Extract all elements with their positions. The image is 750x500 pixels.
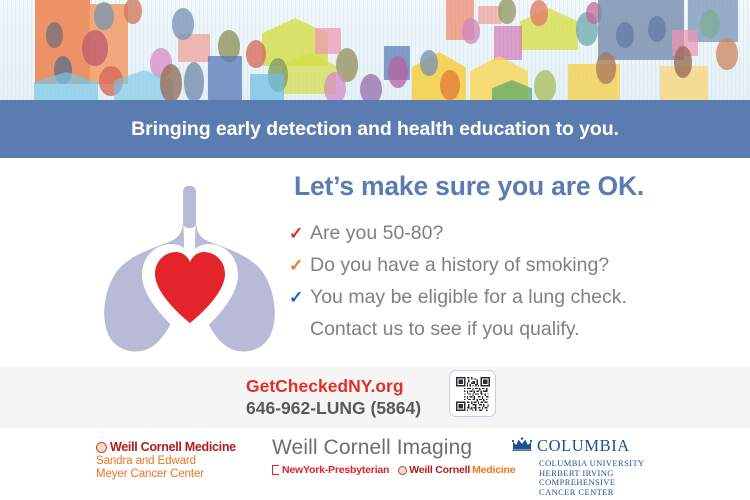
- wci-title: Weill Cornell Imaging: [272, 436, 482, 460]
- art-tree: [700, 10, 720, 38]
- check-icon: ✓: [288, 252, 310, 279]
- art-tree: [616, 22, 634, 48]
- art-tree: [596, 52, 616, 84]
- cornell-seal-icon: [398, 466, 407, 475]
- art-tree: [324, 72, 346, 100]
- list-item-label: Are you 50-80?: [310, 220, 443, 247]
- logo-weill-cornell-imaging: Weill Cornell Imaging NewYork-Presbyteri…: [272, 436, 482, 476]
- list-item: ✓ Contact us to see if you qualify.: [288, 316, 708, 348]
- tagline-text: Bringing early detection and health educ…: [131, 118, 619, 141]
- art-tree: [674, 46, 692, 78]
- art-tree: [530, 0, 548, 26]
- wcm-partner-label: Weill Cornell: [409, 464, 470, 476]
- wcm-title: Weill Cornell Medicine: [110, 440, 236, 454]
- cornell-seal-icon: [96, 442, 107, 453]
- list-item: ✓ Do you have a history of smoking?: [288, 252, 708, 284]
- list-item-label: You may be eligible for a lung check.: [310, 284, 627, 311]
- art-tree: [440, 70, 460, 100]
- wci-partner-lockup: NewYork-Presbyterian Weill Cornell Medic…: [272, 464, 482, 476]
- art-tree: [716, 38, 738, 70]
- check-icon: ✓: [288, 220, 310, 247]
- wcm-subtitle-line-1: Sandra and Edward: [96, 455, 266, 468]
- art-tree: [462, 18, 480, 44]
- art-tree: [246, 40, 266, 68]
- art-tree: [160, 64, 182, 100]
- art-tree: [388, 56, 408, 88]
- art-building: [250, 74, 284, 100]
- wcm-subtitle-line-2: Meyer Cancer Center: [96, 468, 266, 481]
- lungs-with-heart-illustration: [95, 186, 285, 361]
- contact-band: GetCheckedNY.org 646-962-LUNG (5864): [0, 367, 750, 428]
- columbia-subtitle-line-3: CANCER CENTER: [539, 488, 692, 498]
- list-item: ✓ Are you 50-80?: [288, 220, 708, 252]
- art-tree: [498, 0, 516, 24]
- art-tree: [534, 70, 556, 100]
- page-headline: Let’s make sure you are OK.: [294, 171, 644, 202]
- art-building: [494, 26, 522, 60]
- nyp-bracket-icon: [272, 465, 279, 475]
- art-tree: [360, 74, 382, 100]
- art-tree: [94, 2, 114, 30]
- tagline-banner: Bringing early detection and health educ…: [0, 100, 750, 158]
- footer-logos: Weill Cornell Medicine Sandra and Edward…: [0, 428, 750, 500]
- list-item-label: Do you have a history of smoking?: [310, 252, 609, 279]
- qr-code[interactable]: [449, 370, 496, 417]
- phone-number[interactable]: 646-962-LUNG (5864): [246, 398, 421, 419]
- art-tree: [82, 30, 108, 66]
- logo-weill-cornell-medicine-meyer-cancer-center: Weill Cornell Medicine Sandra and Edward…: [96, 440, 266, 481]
- art-tree: [184, 62, 204, 100]
- art-house: [520, 8, 578, 50]
- art-building: [315, 28, 341, 54]
- columbia-lockup: COLUMBIA: [512, 436, 692, 456]
- art-tree: [172, 8, 194, 40]
- main-content: Let’s make sure you are OK. ✓ Are you 50…: [0, 158, 750, 367]
- nyp-label: NewYork-Presbyterian: [282, 464, 389, 476]
- logo-columbia-herbert-irving-cancer-center: COLUMBIA COLUMBIA UNIVERSITY HERBERT IRV…: [512, 436, 692, 497]
- art-tree: [420, 50, 438, 76]
- columbia-subtitle-line-2: HERBERT IRVING COMPREHENSIVE: [539, 469, 692, 488]
- crown-icon: [512, 437, 532, 456]
- wcm-partner-label-medicine: Medicine: [472, 464, 515, 476]
- art-tree: [124, 0, 142, 24]
- check-icon: ✓: [288, 284, 310, 311]
- columbia-title: COLUMBIA: [537, 436, 630, 456]
- art-tree: [46, 22, 63, 48]
- eligibility-checklist: ✓ Are you 50-80? ✓ Do you have a history…: [288, 220, 708, 348]
- website-link[interactable]: GetCheckedNY.org: [246, 376, 404, 397]
- art-tree: [648, 16, 666, 42]
- art-building: [208, 56, 242, 100]
- list-item-label: Contact us to see if you qualify.: [310, 316, 580, 343]
- wcm-lockup: Weill Cornell Medicine: [96, 440, 266, 454]
- header-artwork-banner: [0, 0, 750, 100]
- list-item: ✓ You may be eligible for a lung check.: [288, 284, 708, 316]
